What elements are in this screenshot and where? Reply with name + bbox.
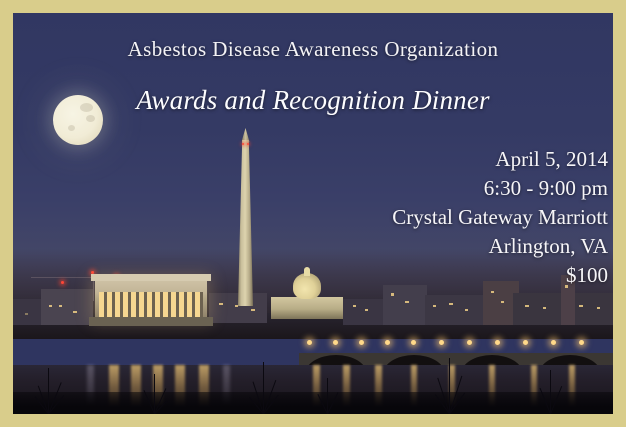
detail-price: $100 bbox=[188, 261, 608, 290]
detail-venue: Crystal Gateway Marriott bbox=[188, 203, 608, 232]
event-details: April 5, 2014 6:30 - 9:00 pm Crystal Gat… bbox=[188, 145, 608, 290]
skyline-photograph: Asbestos Disease Awareness Organization … bbox=[13, 13, 613, 414]
detail-city: Arlington, VA bbox=[188, 232, 608, 261]
detail-date: April 5, 2014 bbox=[188, 145, 608, 174]
detail-time: 6:30 - 9:00 pm bbox=[188, 174, 608, 203]
event-invitation-card: Asbestos Disease Awareness Organization … bbox=[0, 0, 626, 427]
organization-title: Asbestos Disease Awareness Organization bbox=[13, 37, 613, 62]
event-title: Awards and Recognition Dinner bbox=[13, 85, 613, 116]
